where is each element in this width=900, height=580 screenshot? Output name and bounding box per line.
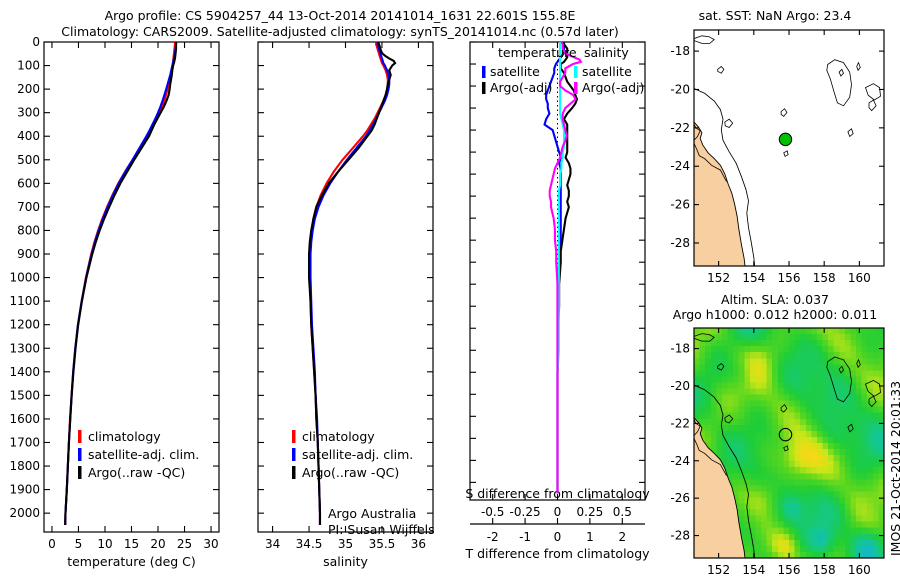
sla-map-title-line-2: Argo h1000: 0.012 h2000: 0.011: [655, 307, 895, 322]
svg-text:34: 34: [265, 537, 280, 551]
svg-text:1500: 1500: [9, 388, 40, 402]
legend-swatch: [292, 448, 296, 461]
difference-plot: -0.5-0.2500.250.5S difference from clima…: [458, 36, 660, 580]
svg-text:satellite-adj. clim.: satellite-adj. clim.: [88, 447, 199, 462]
svg-text:satellite: satellite: [490, 64, 540, 79]
svg-text:600: 600: [17, 176, 40, 190]
svg-text:Argo(-adj): Argo(-adj): [582, 80, 644, 95]
svg-text:1900: 1900: [9, 483, 40, 497]
imos-timestamp: IMOS 21-Oct-2014 20:01:33: [888, 381, 900, 556]
sla-map-title-line-1: Altim. SLA: 0.037: [660, 292, 890, 307]
svg-text:1300: 1300: [9, 341, 40, 355]
svg-text:10: 10: [97, 537, 112, 551]
svg-text:-28: -28: [670, 236, 690, 250]
svg-text:-2: -2: [487, 530, 499, 544]
legend-swatch: [78, 448, 82, 461]
svg-text:temperature (deg C): temperature (deg C): [67, 554, 196, 569]
legend-swatch: [78, 466, 82, 479]
svg-text:-0.5: -0.5: [481, 505, 504, 519]
svg-text:300: 300: [17, 106, 40, 120]
salinity-profile-panel[interactable]: 3434.53535.536salinityclimatologysatelli…: [240, 36, 458, 580]
svg-text:salinity: salinity: [323, 554, 368, 569]
svg-text:PI: Susan Wijffels: PI: Susan Wijffels: [328, 522, 435, 537]
legend-swatch: [292, 430, 296, 443]
svg-text:salinity: salinity: [584, 45, 629, 60]
salinity-plot: 3434.53535.536salinityclimatologysatelli…: [240, 36, 458, 580]
svg-text:-20: -20: [670, 379, 690, 393]
legend-swatch: [78, 430, 82, 443]
svg-text:Argo(..raw -QC): Argo(..raw -QC): [88, 465, 185, 480]
svg-text:158: 158: [813, 271, 836, 285]
sst-map-title: sat. SST: NaN Argo: 23.4: [660, 8, 890, 23]
svg-text:700: 700: [17, 200, 40, 214]
svg-text:Argo(-adj): Argo(-adj): [490, 80, 552, 95]
svg-text:temperature: temperature: [498, 45, 577, 60]
svg-text:0: 0: [554, 505, 562, 519]
svg-text:-26: -26: [670, 491, 690, 505]
svg-text:900: 900: [17, 247, 40, 261]
svg-text:-0.25: -0.25: [510, 505, 541, 519]
svg-text:1800: 1800: [9, 459, 40, 473]
svg-text:100: 100: [17, 59, 40, 73]
argo-float-marker[interactable]: [779, 133, 791, 145]
svg-text:-20: -20: [670, 82, 690, 96]
svg-text:154: 154: [742, 563, 765, 577]
svg-text:35.5: 35.5: [369, 537, 396, 551]
svg-text:-24: -24: [670, 454, 690, 468]
svg-text:200: 200: [17, 82, 40, 96]
legend-swatch: [292, 466, 296, 479]
svg-text:climatology: climatology: [88, 429, 161, 444]
svg-text:-22: -22: [670, 416, 690, 430]
svg-text:25: 25: [177, 537, 192, 551]
svg-text:satellite-adj. clim.: satellite-adj. clim.: [302, 447, 413, 462]
svg-text:1400: 1400: [9, 365, 40, 379]
svg-text:800: 800: [17, 223, 40, 237]
svg-text:-22: -22: [670, 121, 690, 135]
svg-text:156: 156: [778, 271, 801, 285]
legend-swatch: [574, 82, 578, 94]
svg-text:-26: -26: [670, 198, 690, 212]
svg-text:160: 160: [848, 563, 871, 577]
svg-text:0.25: 0.25: [577, 505, 604, 519]
difference-profile-panel[interactable]: -0.5-0.2500.250.5S difference from clima…: [458, 36, 660, 580]
svg-text:0.5: 0.5: [613, 505, 632, 519]
svg-text:0: 0: [48, 537, 56, 551]
svg-text:0: 0: [32, 35, 40, 49]
svg-text:400: 400: [17, 129, 40, 143]
svg-text:160: 160: [848, 271, 871, 285]
sla-map-panel[interactable]: 152154156158160-18-20-22-24-26-28: [660, 322, 892, 580]
svg-text:Argo Australia: Argo Australia: [328, 506, 416, 521]
svg-text:-1: -1: [519, 530, 531, 544]
svg-text:158: 158: [813, 563, 836, 577]
temperature-plot: 0100200300400500600700800900100011001200…: [0, 36, 240, 580]
svg-text:-18: -18: [670, 44, 690, 58]
svg-text:152: 152: [707, 563, 730, 577]
svg-text:2: 2: [618, 530, 626, 544]
argo-profile-figure: Argo profile: CS 5904257_44 13-Oct-2014 …: [0, 0, 900, 580]
svg-text:-28: -28: [670, 529, 690, 543]
svg-text:36: 36: [411, 537, 426, 551]
svg-text:20: 20: [150, 537, 165, 551]
svg-text:152: 152: [707, 271, 730, 285]
svg-text:34.5: 34.5: [296, 537, 323, 551]
svg-text:0: 0: [554, 530, 562, 544]
svg-text:1100: 1100: [9, 294, 40, 308]
svg-text:1200: 1200: [9, 318, 40, 332]
legend-swatch: [482, 66, 486, 78]
svg-text:climatology: climatology: [302, 429, 375, 444]
svg-text:-24: -24: [670, 159, 690, 173]
figure-title-line-1: Argo profile: CS 5904257_44 13-Oct-2014 …: [0, 8, 680, 23]
sst-map-panel[interactable]: 152154156158160-18-20-22-24-26-28: [660, 24, 892, 289]
sla-map: 152154156158160-18-20-22-24-26-28: [660, 322, 892, 580]
svg-text:T difference from climatology: T difference from climatology: [464, 546, 650, 561]
svg-text:1700: 1700: [9, 435, 40, 449]
svg-text:15: 15: [124, 537, 139, 551]
svg-text:30: 30: [203, 537, 218, 551]
svg-text:-18: -18: [670, 342, 690, 356]
legend-swatch: [482, 82, 486, 94]
legend-swatch: [574, 66, 578, 78]
svg-text:156: 156: [778, 563, 801, 577]
svg-text:35: 35: [338, 537, 353, 551]
svg-text:1000: 1000: [9, 271, 40, 285]
svg-text:1600: 1600: [9, 412, 40, 426]
svg-text:Argo(..raw -QC): Argo(..raw -QC): [302, 465, 399, 480]
svg-text:154: 154: [742, 271, 765, 285]
svg-text:5: 5: [75, 537, 83, 551]
svg-text:1: 1: [586, 530, 594, 544]
temperature-profile-panel[interactable]: 0100200300400500600700800900100011001200…: [0, 36, 240, 580]
svg-text:500: 500: [17, 153, 40, 167]
sst-map: 152154156158160-18-20-22-24-26-28: [660, 24, 892, 289]
svg-text:2000: 2000: [9, 506, 40, 520]
svg-text:satellite: satellite: [582, 64, 632, 79]
